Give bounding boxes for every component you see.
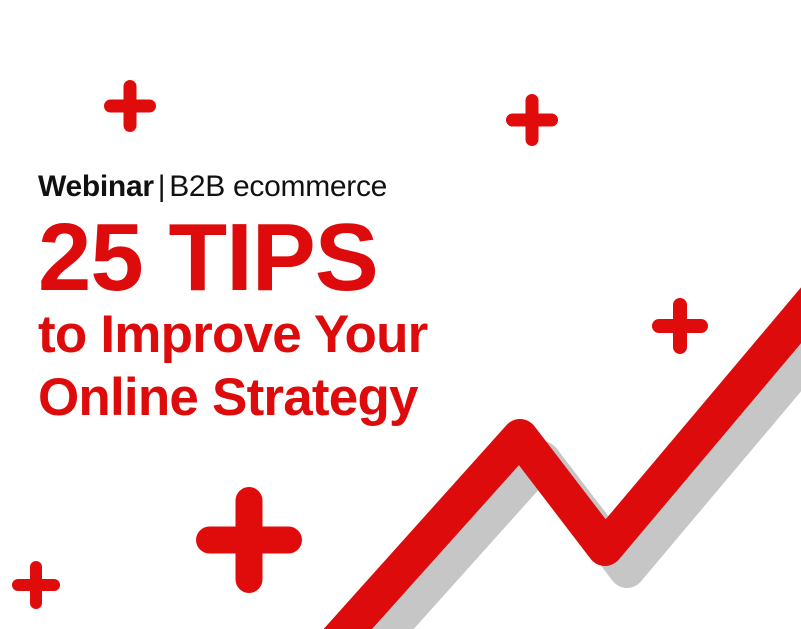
eyebrow-label: Webinar|B2B ecommerce (38, 172, 508, 202)
plus-bar-vertical (673, 298, 687, 354)
plus-bar-vertical (236, 487, 263, 593)
plus-decoration-icon (12, 561, 60, 609)
eyebrow-light-text: B2B ecommerce (169, 170, 387, 203)
plus-decoration-large-icon (196, 487, 302, 593)
plus-decoration-icon (506, 94, 558, 146)
eyebrow-separator: | (154, 170, 170, 203)
plus-decoration-icon (652, 298, 708, 354)
plus-bar-horizontal (12, 579, 60, 591)
plus-bar-horizontal (196, 527, 302, 554)
plus-bar-vertical (124, 80, 137, 132)
plus-decoration-icon (104, 80, 156, 132)
subtitle-line-1: to Improve Your (38, 304, 508, 367)
eyebrow-strong-text: Webinar (38, 170, 154, 203)
page-subtitle: to Improve Your Online Strategy (38, 304, 508, 429)
page-title: 25 TIPS (38, 214, 508, 302)
banner-text-block: Webinar|B2B ecommerce 25 TIPS to Improve… (38, 172, 508, 429)
plus-bar-horizontal (104, 100, 156, 113)
subtitle-line-2: Online Strategy (38, 367, 508, 430)
plus-bar-horizontal (652, 319, 708, 333)
plus-bar-vertical (30, 561, 42, 609)
plus-bar-horizontal (506, 114, 558, 127)
plus-bar-vertical (526, 94, 539, 146)
promo-banner: Webinar|B2B ecommerce 25 TIPS to Improve… (0, 0, 801, 629)
